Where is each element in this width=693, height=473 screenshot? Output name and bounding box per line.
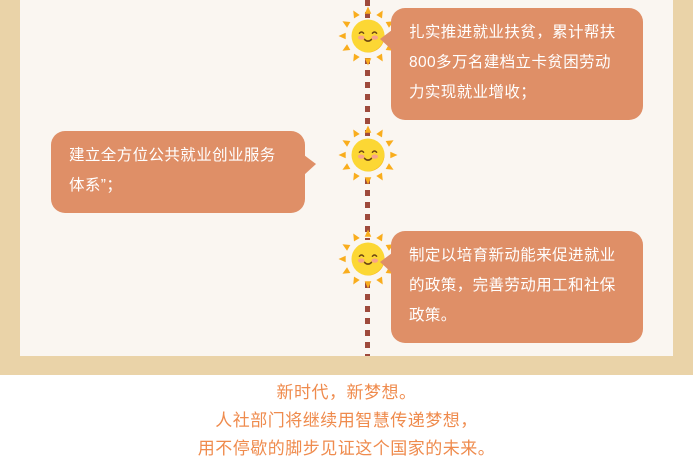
timeline-dashed-line-segment	[365, 282, 370, 356]
speech-bubble-2: 建立全方位公共就业创业服务 体系”；	[51, 131, 305, 213]
infographic-panel: 扎实推进就业扶贫，累计帮扶 800多万名建档立卡贫困劳动 力实现就业增收； 建立…	[0, 0, 693, 375]
bubble-text-line: 800多万名建档立卡贫困劳动	[409, 48, 625, 78]
closing-line: 用不停歇的脚步见证这个国家的未来。	[0, 435, 693, 463]
bubble-text-line: 建立全方位公共就业创业服务	[69, 141, 287, 171]
smiling-sun-icon	[337, 124, 399, 186]
bubble-text-line: 体系”；	[69, 171, 287, 201]
bubble-text-line: 的政策，完善劳动用工和社保	[409, 271, 625, 301]
bubble-text-line: 扎实推进就业扶贫，累计帮扶	[409, 18, 625, 48]
closing-statement: 新时代，新梦想。 人社部门将继续用智慧传递梦想， 用不停歇的脚步见证这个国家的未…	[0, 375, 693, 473]
bubble-text-line: 力实现就业增收；	[409, 78, 625, 108]
bubble-text-line: 政策。	[409, 301, 625, 331]
closing-line: 新时代，新梦想。	[0, 379, 693, 407]
closing-line: 人社部门将继续用智慧传递梦想，	[0, 407, 693, 435]
speech-bubble-1: 扎实推进就业扶贫，累计帮扶 800多万名建档立卡贫困劳动 力实现就业增收；	[391, 8, 643, 120]
bubble-text-line: 制定以培育新动能来促进就业	[409, 241, 625, 271]
speech-bubble-3: 制定以培育新动能来促进就业 的政策，完善劳动用工和社保 政策。	[391, 231, 643, 343]
panel-canvas: 扎实推进就业扶贫，累计帮扶 800多万名建档立卡贫困劳动 力实现就业增收； 建立…	[20, 0, 673, 356]
